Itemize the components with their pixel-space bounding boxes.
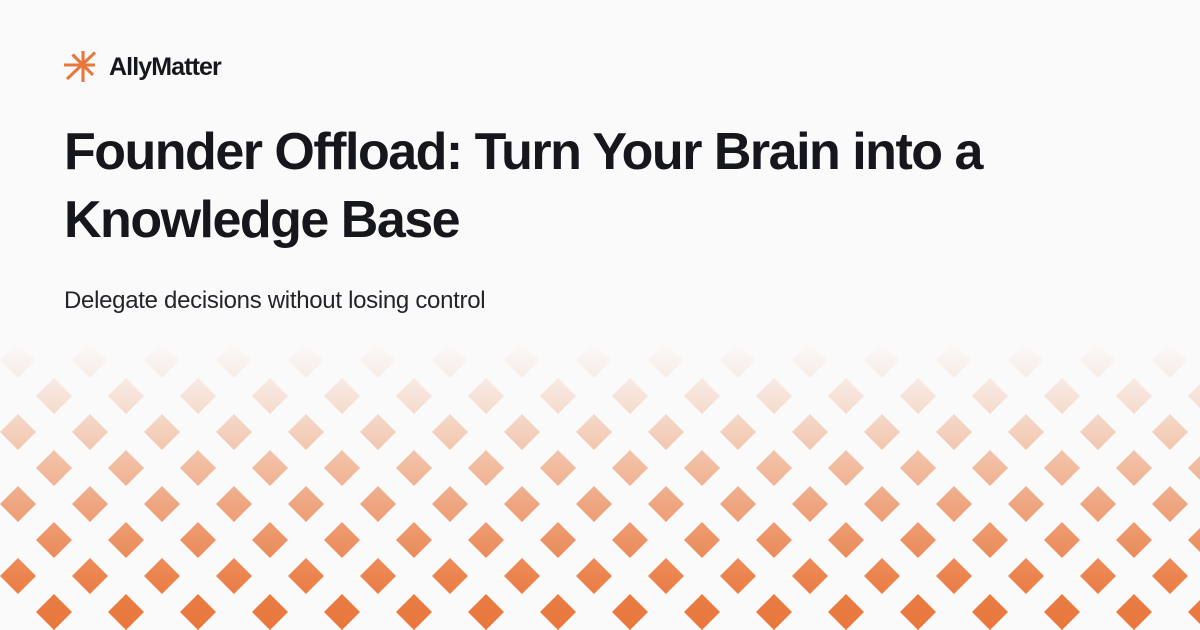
argyle-diamond-pattern (0, 342, 1200, 630)
asterisk-starburst-icon (62, 48, 100, 86)
page-subtitle: Delegate decisions without losing contro… (64, 285, 1084, 317)
pattern-diamonds (0, 342, 1200, 630)
hero-content: Founder Offload: Turn Your Brain into a … (64, 118, 1084, 317)
page-title: Founder Offload: Turn Your Brain into a … (64, 118, 984, 254)
brand-lockup[interactable]: AllyMatter (62, 48, 221, 86)
pattern-svg (0, 342, 1200, 630)
brand-wordmark: AllyMatter (109, 55, 221, 80)
og-card: AllyMatter Founder Offload: Turn Your Br… (0, 0, 1200, 630)
